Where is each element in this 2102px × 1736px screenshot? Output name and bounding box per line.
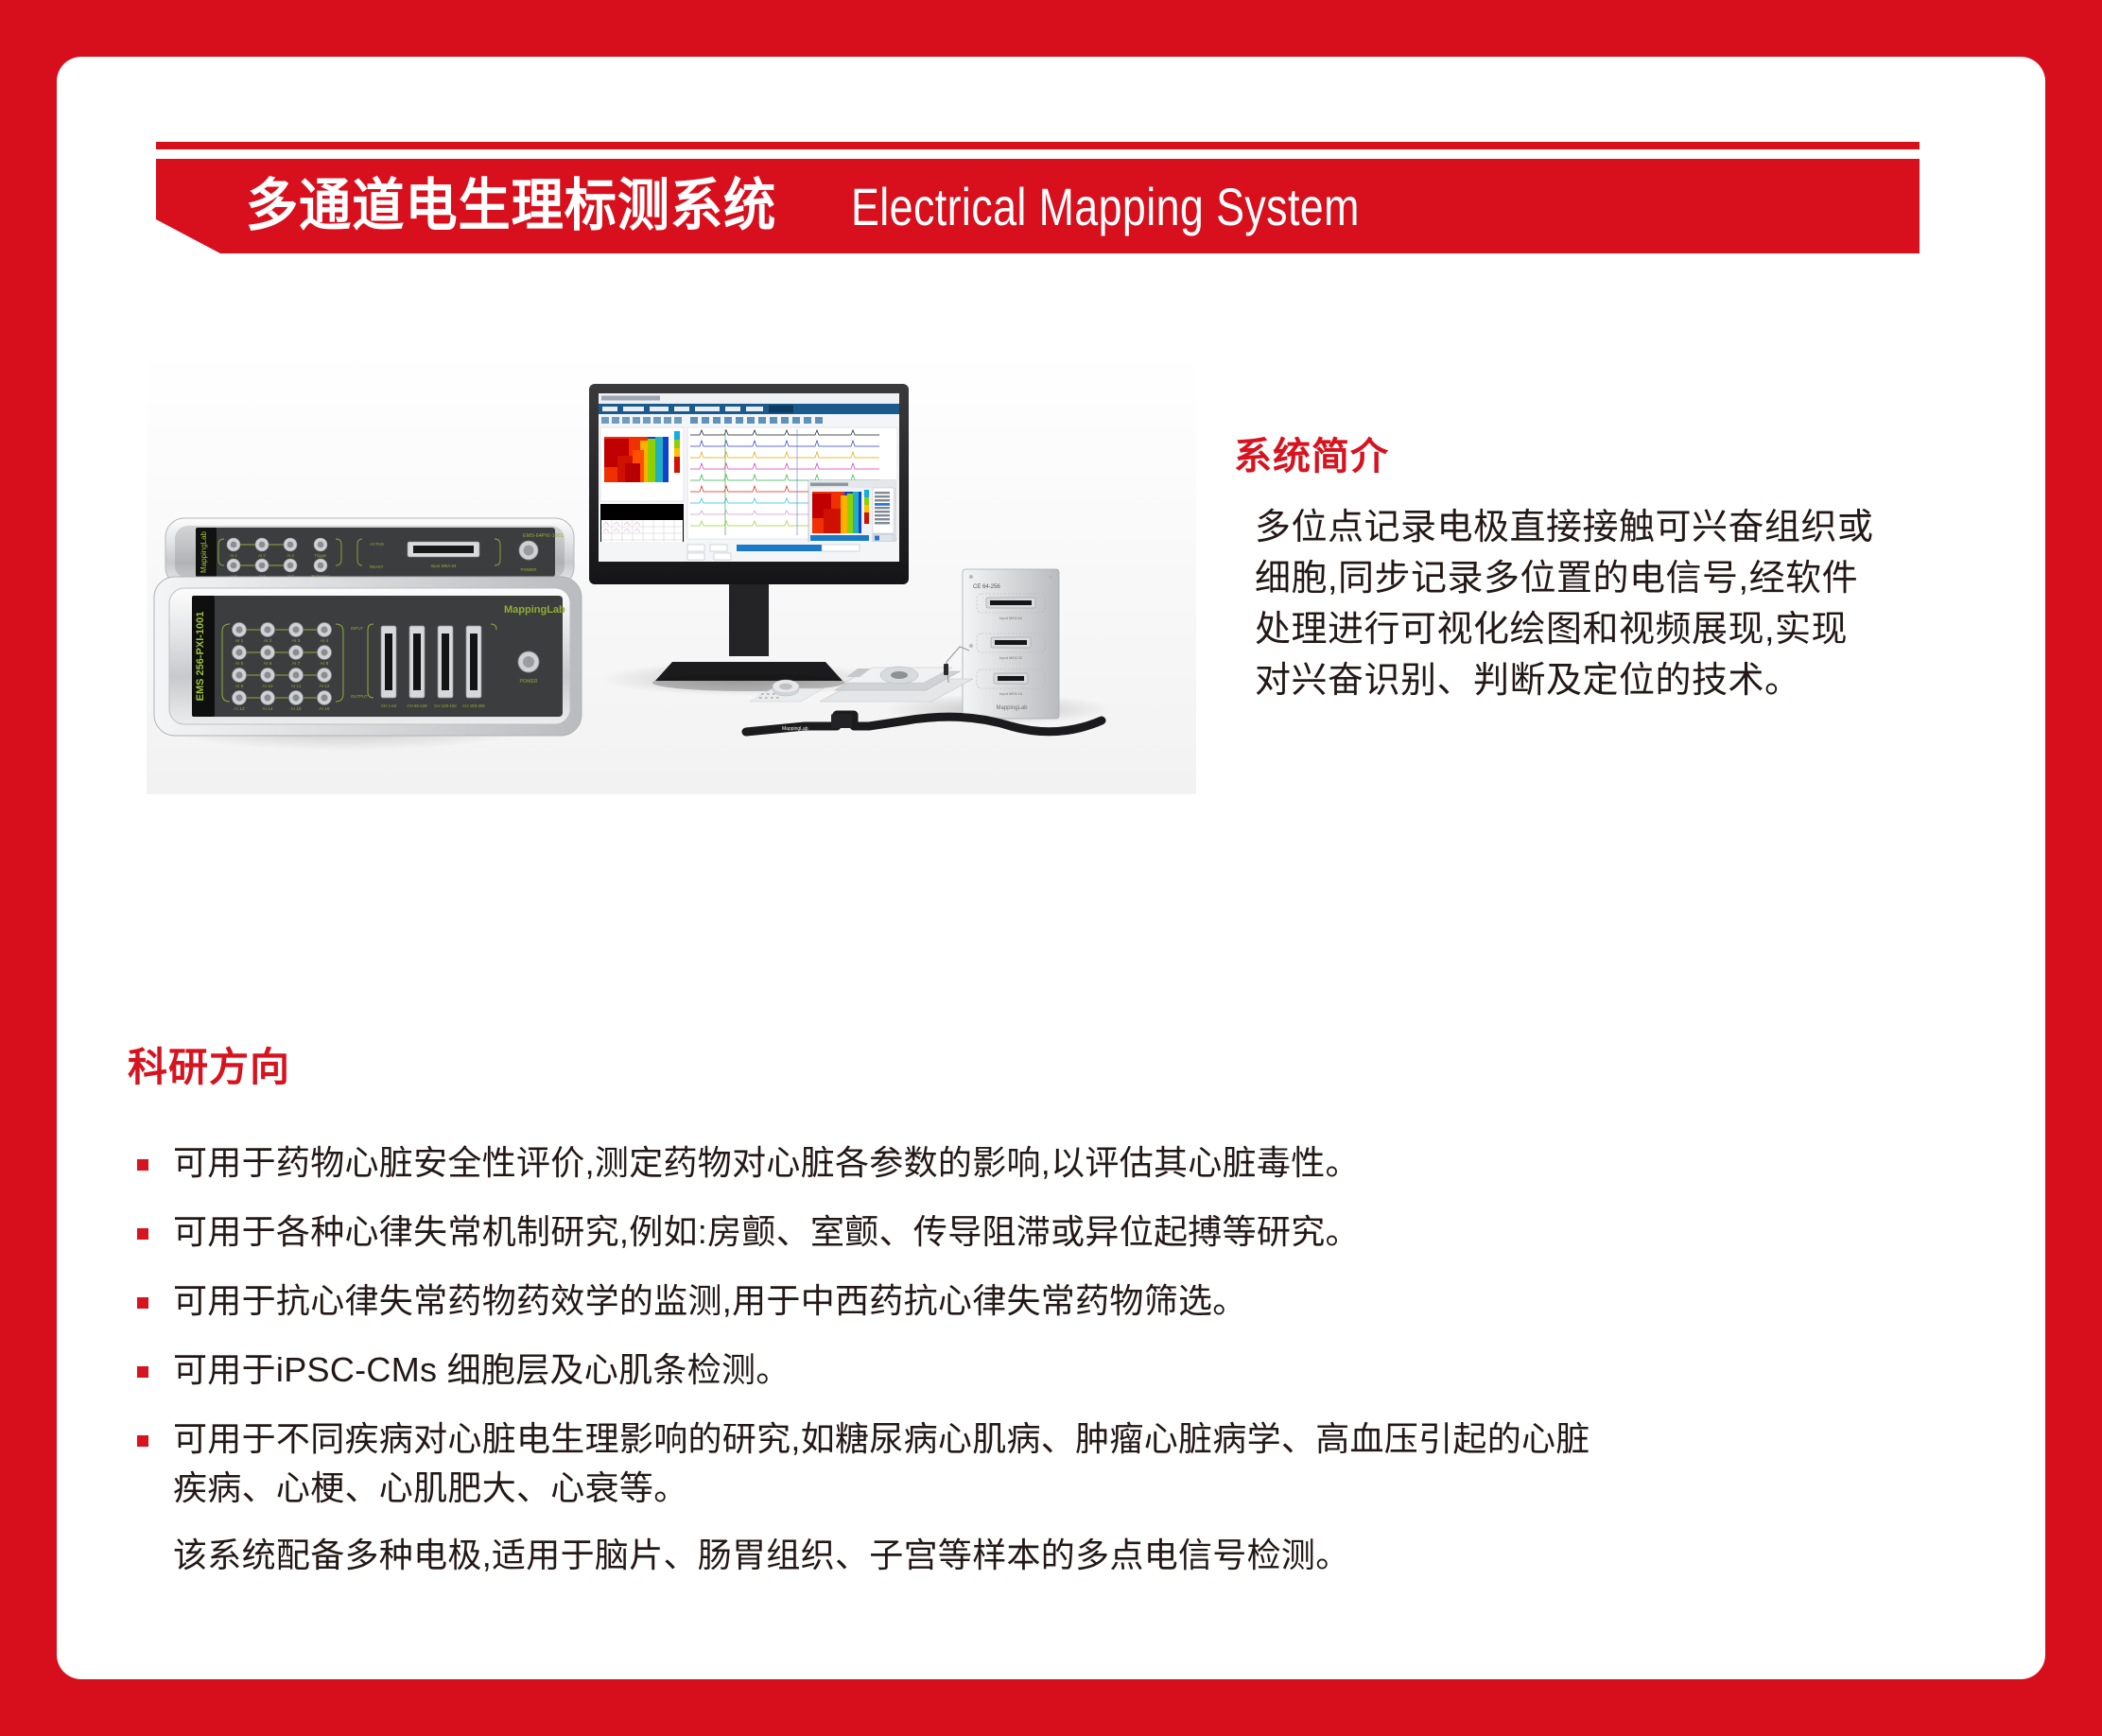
top-unit: MappingLab EMS-64PXI-1001: [165, 518, 574, 586]
interface-panel: CE 64-256 Input MEA 64 Input MEA 32: [963, 569, 1059, 719]
list-item: 可用于iPSC-CMs 细胞层及心肌条检测。: [137, 1345, 2045, 1394]
svg-text:AI 3: AI 3: [292, 638, 301, 644]
intro-line-4: 对兴奋识别、判断及定位的技术。: [1255, 656, 2000, 707]
bullet-square-icon: [137, 1228, 148, 1240]
main-unit-model-text: EMS 256-PXI-1001: [195, 612, 206, 702]
activation-heatmap: [604, 437, 669, 482]
list-item: 可用于药物心脏安全性评价,测定药物对心脏各参数的影响,以评估其心脏毒性。: [137, 1138, 2045, 1187]
list-item-text-extra: 该系统配备多种电极,适用于脑片、肠胃组织、子宫等样本的多点电信号检测。: [173, 1531, 1590, 1579]
intro-line-3: 处理进行可视化绘图和视频展现,实现: [1255, 605, 2000, 656]
top-unit-power-text: POWER: [520, 567, 537, 572]
cable-brand-text: MappingLab: [782, 726, 808, 732]
list-item-text-continued: 疾病、心梗、心肌肥大、心衰等。: [173, 1464, 1590, 1512]
svg-text:AI 13: AI 13: [234, 706, 245, 712]
svg-text:Trigger: Trigger: [314, 553, 327, 558]
intro-section: 系统简介 多位点记录电极直接接触可兴奋组织或 细胞,同步记录多位置的电信号,经软…: [1234, 425, 2000, 707]
research-bullet-list: 可用于药物心脏安全性评价,测定药物对心脏各参数的影响,以评估其心脏毒性。 可用于…: [57, 1138, 2045, 1579]
intro-heading: 系统简介: [1234, 425, 2000, 480]
svg-text:AI 7: AI 7: [292, 661, 301, 667]
svg-text:AI 2: AI 2: [264, 638, 272, 644]
svg-text:AI 4: AI 4: [321, 638, 329, 644]
svg-text:AI 1: AI 1: [235, 638, 244, 644]
svg-text:AI 2: AI 2: [258, 553, 266, 558]
list-item-text: 可用于iPSC-CMs 细胞层及心肌条检测。: [173, 1345, 790, 1394]
page-title-en: Electrical Mapping System: [851, 181, 1360, 234]
bullet-square-icon: [137, 1297, 148, 1309]
product-photo: MappingLab EMS-64PXI-1001: [147, 350, 1196, 794]
list-item-text: 可用于抗心律失常药物药效学的监测,用于中西药抗心律失常药物筛选。: [173, 1276, 1247, 1325]
top-unit-connector-text: Input MEA 64: [430, 564, 457, 568]
svg-text:Input MEA 32: Input MEA 32: [999, 655, 1023, 660]
main-unit: EMS 256-PXI-1001 MappingLab: [154, 577, 582, 736]
svg-text:AI 11: AI 11: [291, 684, 302, 689]
research-heading: 科研方向: [128, 1035, 2045, 1093]
svg-text:OUTPUT: OUTPUT: [351, 694, 368, 699]
intro-line-1: 多位点记录电极直接接触可兴奋组织或: [1255, 503, 2000, 554]
svg-text:AI 5: AI 5: [235, 661, 244, 667]
svg-text:AI 15: AI 15: [290, 706, 302, 712]
panel-brand-text: MappingLab: [996, 705, 1028, 711]
top-unit-model-text: EMS-64PXI-1001: [523, 533, 564, 539]
research-section: 科研方向 可用于药物心脏安全性评价,测定药物对心脏各参数的影响,以评估其心脏毒性…: [57, 1035, 2045, 1600]
main-unit-brand-text: MappingLab: [504, 604, 565, 616]
svg-text:AI 16: AI 16: [319, 706, 330, 712]
svg-text:AI 1: AI 1: [230, 553, 237, 558]
svg-text:CH 129-192: CH 129-192: [434, 703, 457, 708]
svg-text:AI 10: AI 10: [262, 684, 273, 689]
svg-text:CH 193-256: CH 193-256: [462, 703, 485, 708]
product-photo-svg: MappingLab EMS-64PXI-1001: [147, 350, 1196, 794]
list-item-text: 可用于药物心脏安全性评价,测定药物对心脏各参数的影响,以评估其心脏毒性。: [173, 1138, 1360, 1187]
svg-text:ACTIVE: ACTIVE: [370, 542, 384, 547]
white-sheet: 多通道电生理标测系统 Electrical Mapping System: [57, 57, 2045, 1679]
svg-text:AI 14: AI 14: [262, 706, 273, 712]
svg-text:Input MEA 16: Input MEA 16: [999, 691, 1023, 696]
title-banner: 多通道电生理标测系统 Electrical Mapping System: [156, 159, 1920, 253]
panel-label-text: CE 64-256: [973, 584, 1000, 590]
bullet-square-icon: [137, 1159, 148, 1171]
list-item: 可用于不同疾病对心脏电生理影响的研究,如糖尿病心肌病、肿瘤心脏病学、高血压引起的…: [137, 1415, 2045, 1578]
body-row: MappingLab EMS-64PXI-1001: [57, 293, 2045, 823]
intro-line-2: 细胞,同步记录多位置的电信号,经软件: [1255, 554, 2000, 605]
svg-text:AI 3: AI 3: [287, 553, 294, 558]
colorbar-left: [674, 431, 680, 473]
activation-map-dialog: [808, 480, 895, 543]
page-title-cn: 多通道电生理标测系统: [246, 178, 776, 234]
software-window: [599, 393, 899, 562]
svg-text:AI 8: AI 8: [321, 661, 329, 667]
svg-text:AI 12: AI 12: [319, 684, 330, 689]
svg-text:CH 65-128: CH 65-128: [407, 703, 427, 708]
svg-text:AI 6: AI 6: [264, 661, 272, 667]
list-item-text: 可用于各种心律失常机制研究,例如:房颤、室颤、传导阻滞或异位起搏等研究。: [173, 1207, 1360, 1256]
svg-text:Input MEA 64: Input MEA 64: [999, 616, 1023, 620]
main-unit-power-text: POWER: [520, 679, 538, 685]
svg-text:READY: READY: [370, 564, 384, 569]
list-item-text-group: 可用于不同疾病对心脏电生理影响的研究,如糖尿病心肌病、肿瘤心脏病学、高血压引起的…: [173, 1415, 1590, 1578]
list-item: 可用于抗心律失常药物药效学的监测,用于中西药抗心律失常药物筛选。: [137, 1276, 2045, 1325]
title-banner-inner: 多通道电生理标测系统 Electrical Mapping System: [156, 178, 1486, 234]
top-unit-brand-text: MappingLab: [200, 530, 208, 573]
intro-body: 多位点记录电极直接接触可兴奋组织或 细胞,同步记录多位置的电信号,经软件 处理进…: [1255, 503, 2000, 707]
bullet-square-icon: [137, 1435, 148, 1447]
poster-page: 多通道电生理标测系统 Electrical Mapping System: [0, 0, 2102, 1736]
svg-text:AI 9: AI 9: [235, 684, 244, 689]
bullet-square-icon: [137, 1366, 148, 1378]
svg-text:INPUT: INPUT: [351, 626, 363, 631]
list-item: 可用于各种心律失常机制研究,例如:房颤、室颤、传导阻滞或异位起搏等研究。: [137, 1207, 2045, 1256]
svg-text:CH 1-64: CH 1-64: [381, 703, 397, 708]
header: 多通道电生理标测系统 Electrical Mapping System: [57, 57, 2045, 274]
header-rule: [156, 142, 1920, 149]
list-item-text: 可用于不同疾病对心脏电生理影响的研究,如糖尿病心肌病、肿瘤心脏病学、高血压引起的…: [173, 1419, 1590, 1458]
